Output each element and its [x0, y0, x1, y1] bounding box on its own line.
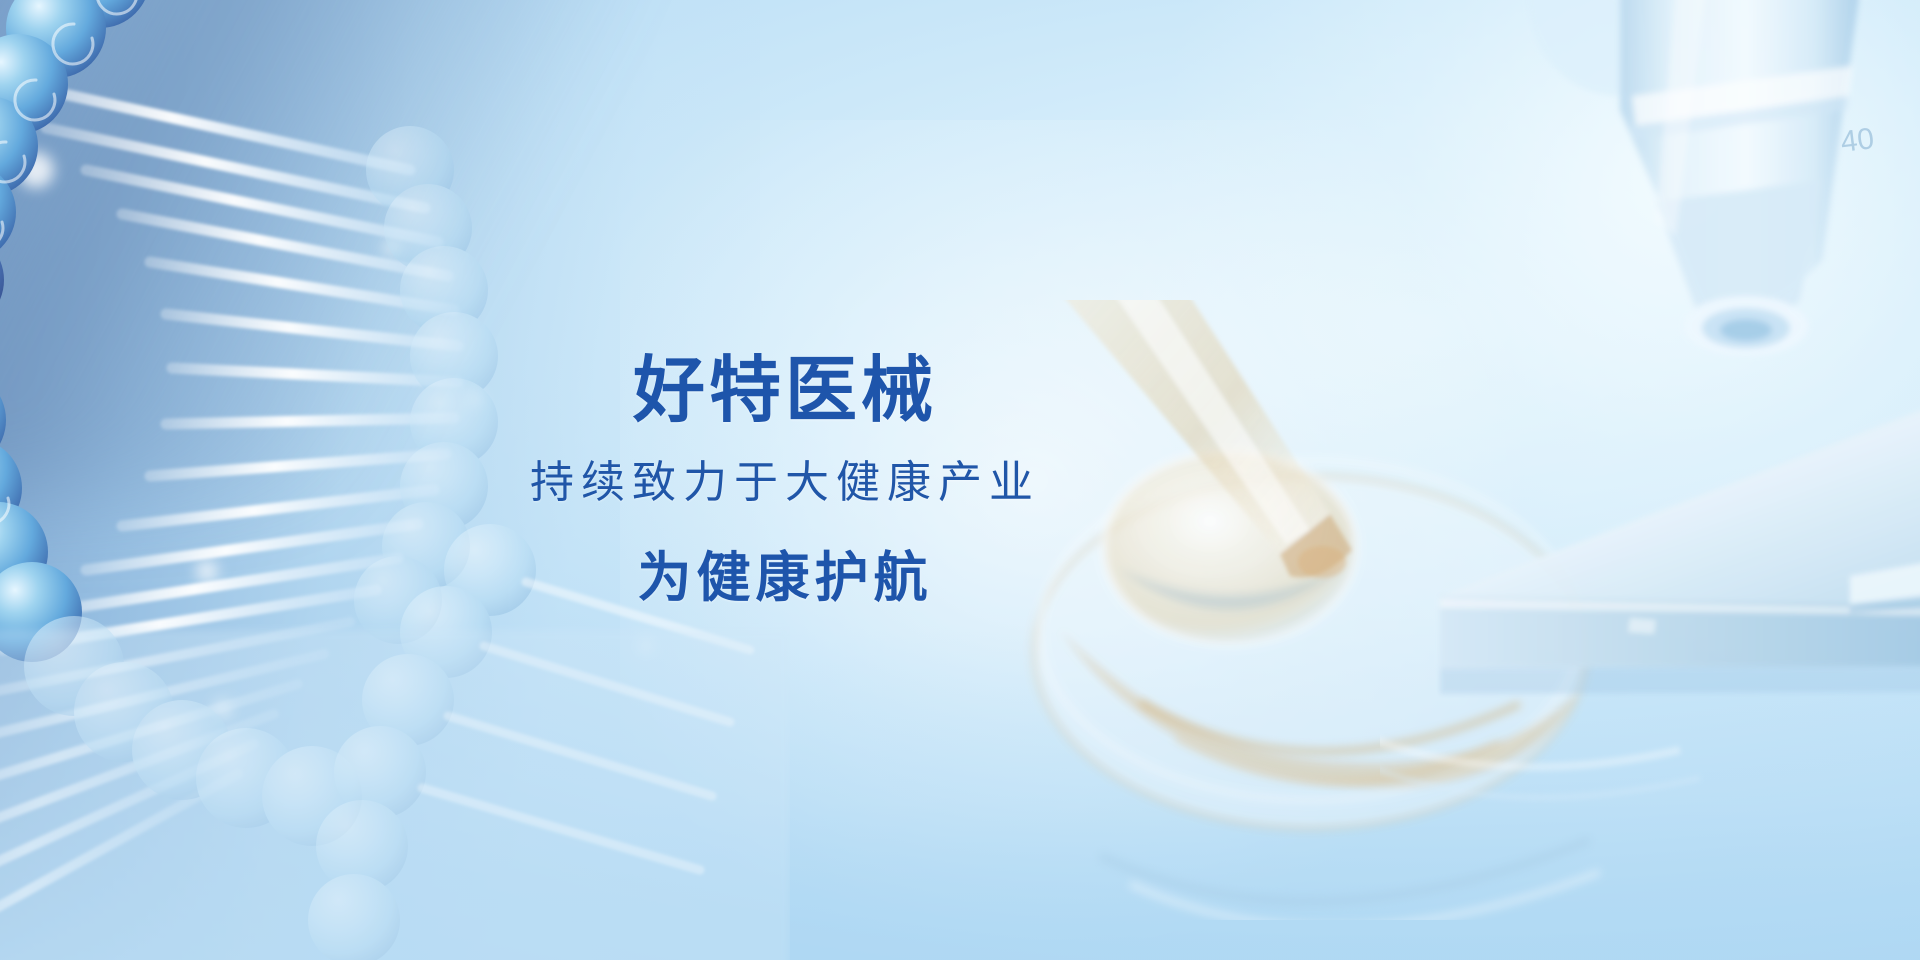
- hero-banner: 40: [0, 0, 1920, 960]
- banner-subtitle: 持续致力于大健康产业: [530, 461, 1040, 505]
- page-title: 好特医械: [633, 355, 937, 427]
- lab-bench-icon: [1380, 400, 1920, 820]
- objective-magnification-label: 40: [1839, 122, 1876, 159]
- banner-tagline: 为健康护航: [638, 551, 933, 605]
